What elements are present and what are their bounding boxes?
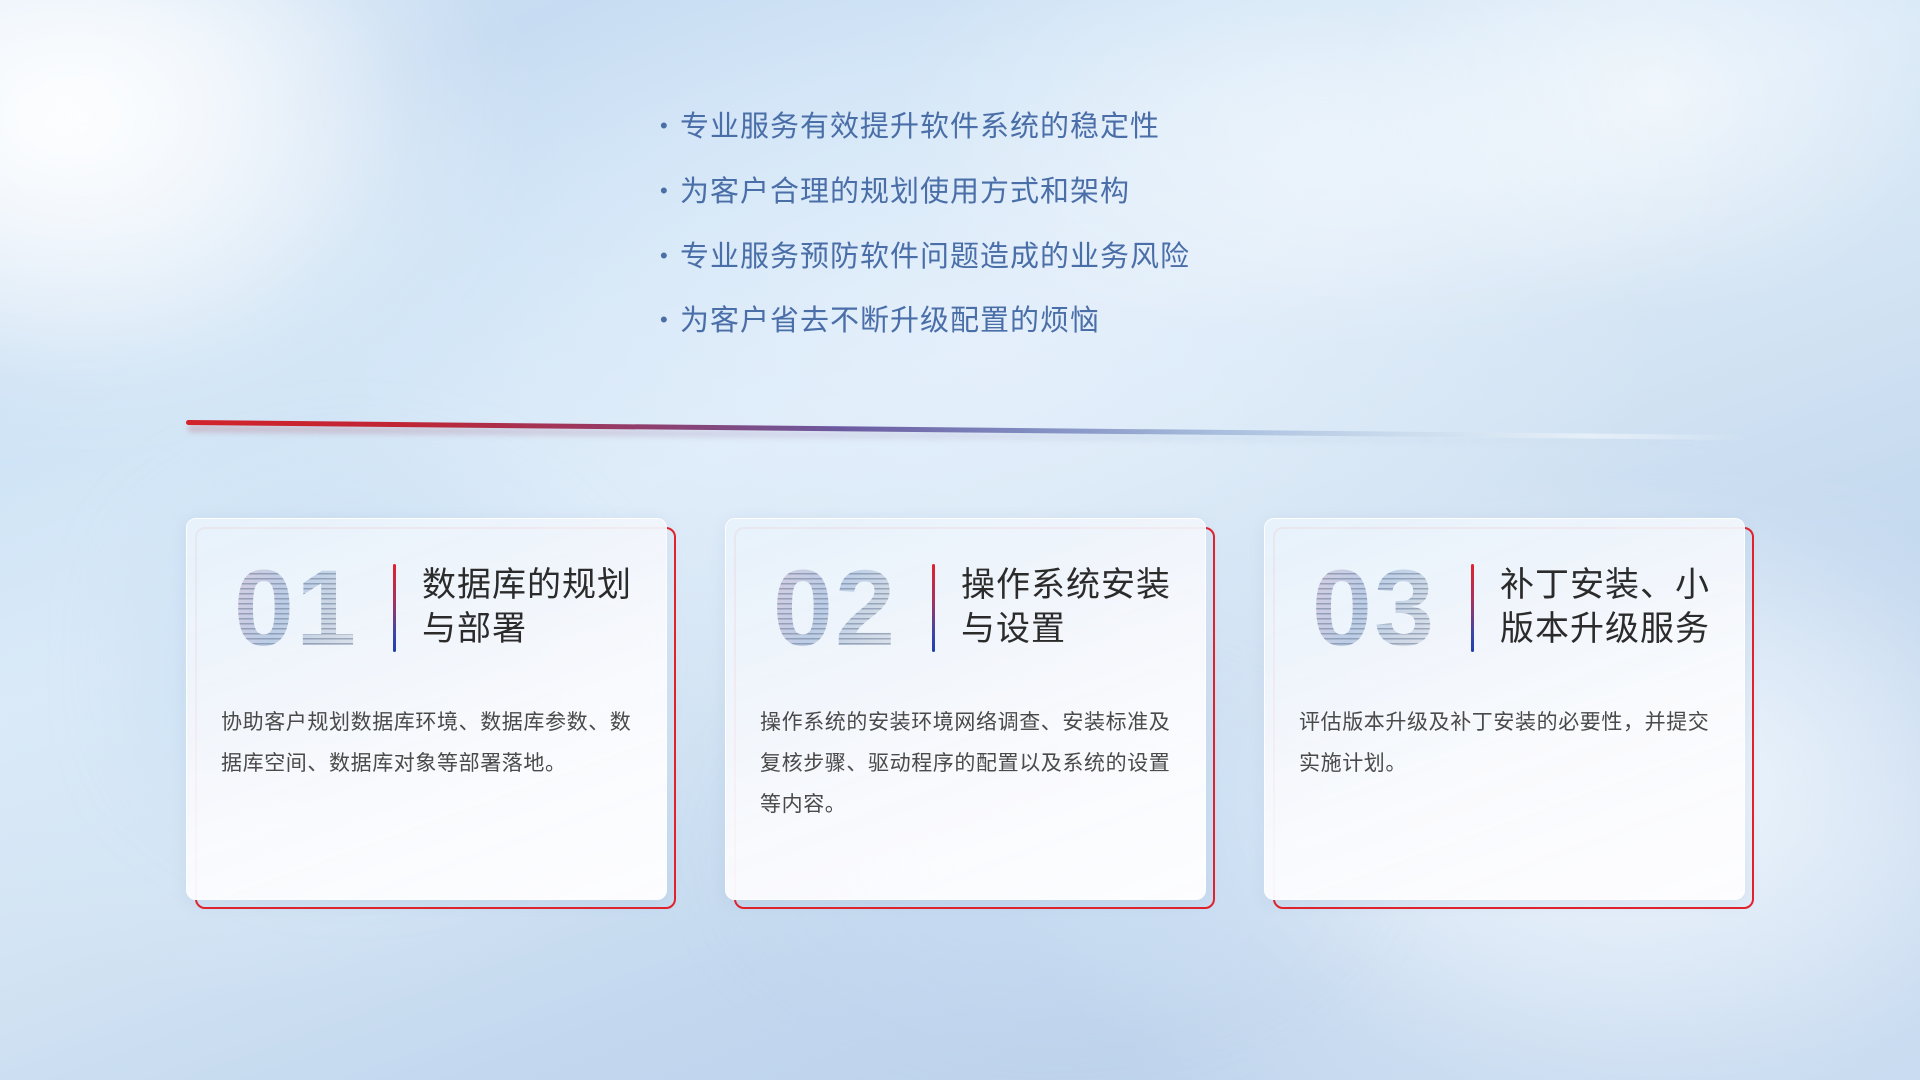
service-card-03[interactable]: 03 补丁安装、小版本升级服务 评估版本升级及补丁安装的必要性，并提交实施计划。 xyxy=(1264,518,1745,900)
card-title: 数据库的规划与部署 xyxy=(422,564,666,651)
card-title-accent-bar xyxy=(1471,564,1474,652)
bullet-dot-icon: • xyxy=(660,115,680,137)
list-item: • 为客户合理的规划使用方式和架构 xyxy=(660,175,1420,210)
bullet-dot-icon: • xyxy=(660,309,680,331)
card-description: 操作系统的安装环境网络调查、安装标准及复核步骤、驱动程序的配置以及系统的设置等内… xyxy=(726,697,1205,826)
card-surface: 01 数据库的规划与部署 协助客户规划数据库环境、数据库参数、数据库空间、数据库… xyxy=(186,518,667,900)
card-description: 协助客户规划数据库环境、数据库参数、数据库空间、数据库对象等部署落地。 xyxy=(187,697,666,785)
bullet-dot-icon: • xyxy=(660,245,680,267)
card-surface: 03 补丁安装、小版本升级服务 评估版本升级及补丁安装的必要性，并提交实施计划。 xyxy=(1264,518,1745,900)
divider-line xyxy=(186,420,1746,440)
card-title: 补丁安装、小版本升级服务 xyxy=(1500,564,1744,651)
card-header: 03 补丁安装、小版本升级服务 xyxy=(1265,519,1744,697)
service-card-group: 01 数据库的规划与部署 协助客户规划数据库环境、数据库参数、数据库空间、数据库… xyxy=(186,518,1746,918)
list-item: • 专业服务有效提升软件系统的稳定性 xyxy=(660,110,1420,145)
card-title-accent-bar xyxy=(393,564,396,652)
slide-canvas: • 专业服务有效提升软件系统的稳定性 • 为客户合理的规划使用方式和架构 • 专… xyxy=(0,0,1920,1080)
card-index-number: 01 xyxy=(205,548,387,668)
divider-shadow xyxy=(188,425,1738,447)
service-card-02[interactable]: 02 操作系统安装与设置 操作系统的安装环境网络调查、安装标准及复核步骤、驱动程… xyxy=(725,518,1206,900)
list-item: • 专业服务预防软件问题造成的业务风险 xyxy=(660,240,1420,275)
card-description: 评估版本升级及补丁安装的必要性，并提交实施计划。 xyxy=(1265,697,1744,785)
card-header: 01 数据库的规划与部署 xyxy=(187,519,666,697)
card-title-accent-bar xyxy=(932,564,935,652)
benefits-bullet-list: • 专业服务有效提升软件系统的稳定性 • 为客户合理的规划使用方式和架构 • 专… xyxy=(660,110,1420,369)
card-index-number: 02 xyxy=(744,548,926,668)
service-card-01[interactable]: 01 数据库的规划与部署 协助客户规划数据库环境、数据库参数、数据库空间、数据库… xyxy=(186,518,667,900)
bullet-text: 专业服务有效提升软件系统的稳定性 xyxy=(680,110,1160,145)
list-item: • 为客户省去不断升级配置的烦恼 xyxy=(660,304,1420,339)
section-divider xyxy=(186,420,1746,454)
bullet-dot-icon: • xyxy=(660,180,680,202)
background-glow-top-left xyxy=(0,0,560,480)
card-header: 02 操作系统安装与设置 xyxy=(726,519,1205,697)
card-index-number: 03 xyxy=(1283,548,1465,668)
bullet-text: 为客户合理的规划使用方式和架构 xyxy=(680,175,1130,210)
card-surface: 02 操作系统安装与设置 操作系统的安装环境网络调查、安装标准及复核步骤、驱动程… xyxy=(725,518,1206,900)
bullet-text: 为客户省去不断升级配置的烦恼 xyxy=(680,304,1100,339)
bullet-text: 专业服务预防软件问题造成的业务风险 xyxy=(680,240,1190,275)
card-title: 操作系统安装与设置 xyxy=(961,564,1205,651)
